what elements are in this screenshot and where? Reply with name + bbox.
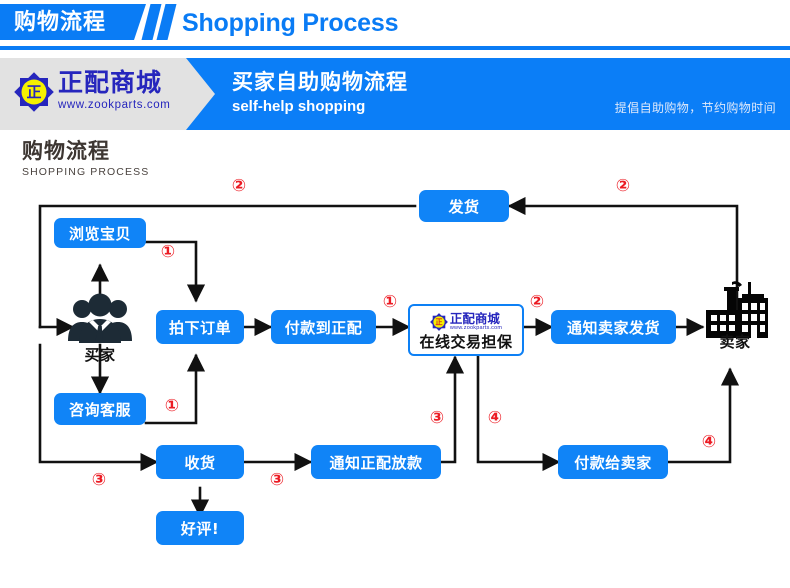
node-receive[interactable]: 收货 [156, 445, 244, 479]
node-consult[interactable]: 咨询客服 [54, 393, 146, 425]
banner-title-en: self-help shopping [232, 97, 408, 116]
step-marker-2-top-left: ② [228, 176, 250, 198]
step-marker-1-browse: ① [157, 242, 179, 264]
node-ship[interactable]: 发货 [419, 190, 509, 222]
node-place-order[interactable]: 拍下订单 [156, 310, 244, 344]
brand-text: 正配商城 www.zookparts.com [58, 68, 186, 112]
node-label: 好评! [181, 518, 219, 539]
flow-diagram: 浏览宝贝 拍下订单 付款到正配 通知卖家发货 发货 咨询客服 收货 通知正配放款… [0, 170, 790, 570]
node-online-trade-guarantee[interactable]: 正 正配商城 www.zookparts.com 在线交易担保 [408, 304, 524, 356]
step-marker-4-left: ④ [484, 408, 506, 430]
actor-seller: 卖家 [702, 280, 768, 351]
brand-url: www.zookparts.com [58, 99, 186, 112]
brand-logo: 正 正配商城 www.zookparts.com [14, 70, 186, 118]
actor-buyer: 买家 [67, 293, 133, 364]
step-marker-2-notify: ② [526, 292, 548, 314]
section-title-cn: 购物流程 [22, 139, 149, 165]
group-of-people-icon [67, 293, 133, 345]
shopping-process-page: 购物流程 Shopping Process 正 正配商城 www.zookpar… [0, 0, 790, 588]
step-marker-4-right: ④ [698, 432, 720, 454]
node-label: 通知正配放款 [329, 452, 422, 473]
node-label: 通知卖家发货 [567, 317, 660, 338]
guarantee-label: 在线交易担保 [419, 333, 512, 351]
page-title-en: Shopping Process [182, 5, 398, 41]
svg-text:正: 正 [435, 318, 442, 327]
node-pay-seller[interactable]: 付款给卖家 [558, 445, 668, 479]
eight-point-star-badge-icon: 正 [430, 313, 448, 331]
node-browse[interactable]: 浏览宝贝 [54, 218, 146, 248]
step-marker-3-release: ③ [426, 408, 448, 430]
step-marker-2-top-right: ② [612, 176, 634, 198]
node-label: 咨询客服 [69, 399, 131, 420]
title-underline [0, 46, 790, 50]
page-title-bar: 购物流程 Shopping Process [0, 0, 790, 46]
step-marker-1-pay: ① [379, 292, 401, 314]
actor-label: 买家 [84, 346, 115, 364]
node-pay-zookparts[interactable]: 付款到正配 [271, 310, 376, 344]
guarantee-brand-text: 正配商城 www.zookparts.com [450, 312, 502, 332]
node-label: 付款给卖家 [574, 452, 652, 473]
actor-label: 卖家 [719, 333, 750, 351]
svg-text:正: 正 [26, 83, 41, 101]
guarantee-brand-row: 正 正配商城 www.zookparts.com [430, 309, 502, 333]
node-label: 拍下订单 [169, 317, 231, 338]
node-label: 收货 [184, 452, 215, 473]
node-praise[interactable]: 好评! [156, 511, 244, 545]
guarantee-brand-cn: 正配商城 [450, 312, 500, 325]
node-notify-ship[interactable]: 通知卖家发货 [551, 310, 676, 344]
banner-title-cn: 买家自助购物流程 [232, 70, 408, 96]
factory-building-icon [702, 280, 768, 332]
node-label: 发货 [448, 196, 479, 217]
node-label: 浏览宝贝 [69, 223, 131, 244]
guarantee-brand-url: www.zookparts.com [450, 325, 502, 332]
step-marker-1-consult: ① [161, 396, 183, 418]
step-marker-3-receive-in: ③ [88, 470, 110, 492]
page-title-cn: 购物流程 [14, 4, 144, 40]
node-notify-release[interactable]: 通知正配放款 [311, 445, 441, 479]
eight-point-star-badge-icon: 正 [14, 72, 54, 112]
brand-name-cn: 正配商城 [58, 68, 186, 98]
node-label: 付款到正配 [285, 317, 363, 338]
banner: 正 正配商城 www.zookparts.com 买家自助购物流程 self-h… [0, 58, 790, 130]
step-marker-3-receive-out: ③ [266, 470, 288, 492]
banner-note: 提倡自助购物，节约购物时间 [615, 100, 776, 116]
banner-title-block: 买家自助购物流程 self-help shopping [232, 70, 408, 116]
